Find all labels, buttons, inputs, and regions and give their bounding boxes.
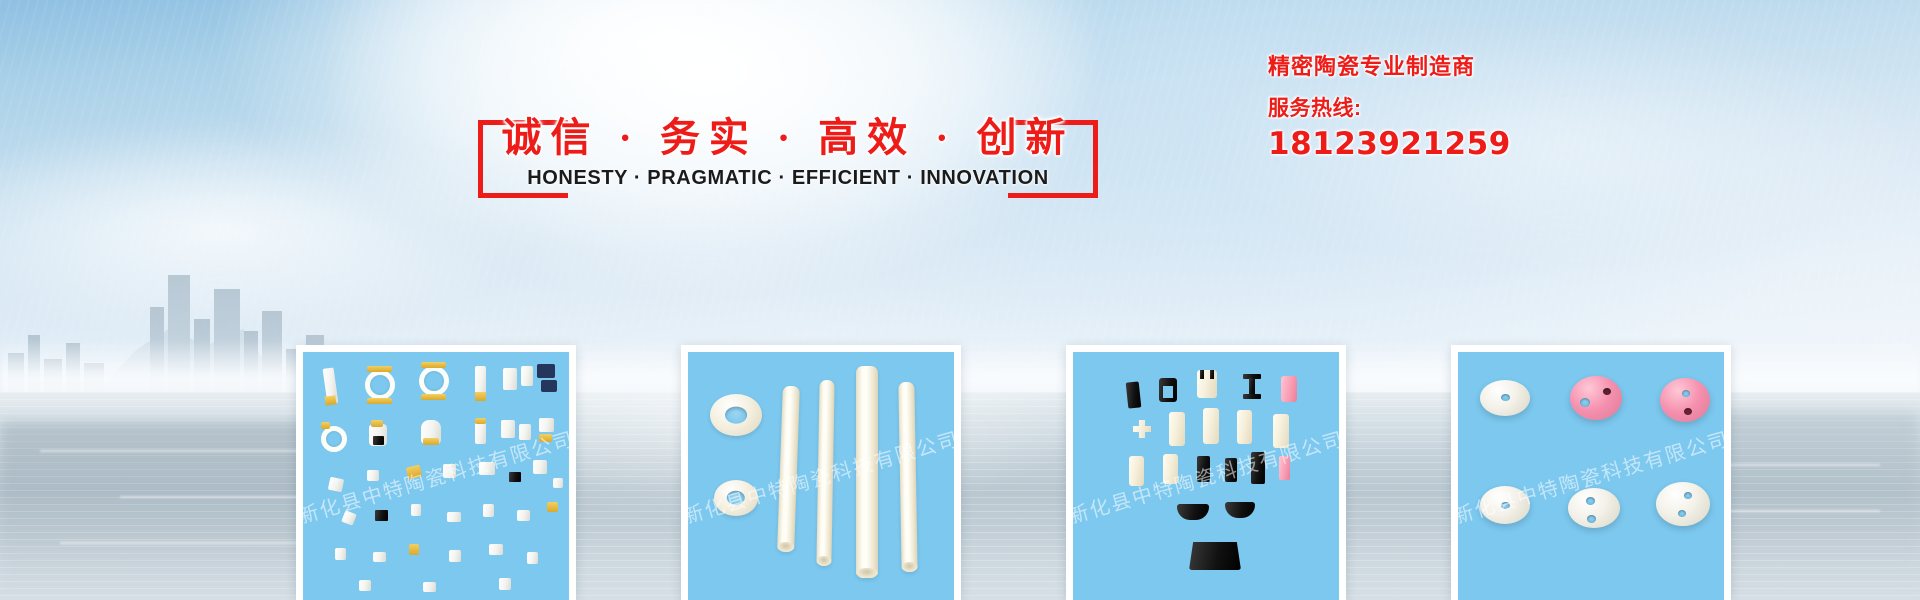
- product-photo-2: 新化县中特陶瓷科技有限公司: [688, 352, 954, 600]
- product-card-row: 新化县中特陶瓷科技有限公司: [0, 0, 1920, 600]
- ceramic-rod: [898, 382, 917, 572]
- product-card-1[interactable]: 新化县中特陶瓷科技有限公司: [296, 345, 576, 600]
- product-card-3[interactable]: 新化县中特陶瓷科技有限公司: [1066, 345, 1346, 600]
- ceramic-disc: [1570, 376, 1622, 420]
- product-photo-1: 新化县中特陶瓷科技有限公司: [303, 352, 569, 600]
- ceramic-disc: [1480, 486, 1530, 524]
- product-card-4[interactable]: 新化县中特陶瓷科技有限公司: [1451, 345, 1731, 600]
- product-photo-4: 新化县中特陶瓷科技有限公司: [1458, 352, 1724, 600]
- ceramic-rod: [777, 386, 800, 552]
- ceramic-washer: [710, 394, 762, 436]
- ceramic-rod: [856, 366, 878, 578]
- product-photo-3: 新化县中特陶瓷科技有限公司: [1073, 352, 1339, 600]
- ceramic-disc: [1480, 380, 1530, 416]
- ceramic-rod: [816, 380, 834, 566]
- ceramic-disc: [1568, 488, 1620, 528]
- ceramic-washer: [714, 480, 758, 516]
- ceramic-disc: [1656, 482, 1710, 526]
- product-card-2[interactable]: 新化县中特陶瓷科技有限公司: [681, 345, 961, 600]
- ceramic-disc: [1660, 378, 1710, 422]
